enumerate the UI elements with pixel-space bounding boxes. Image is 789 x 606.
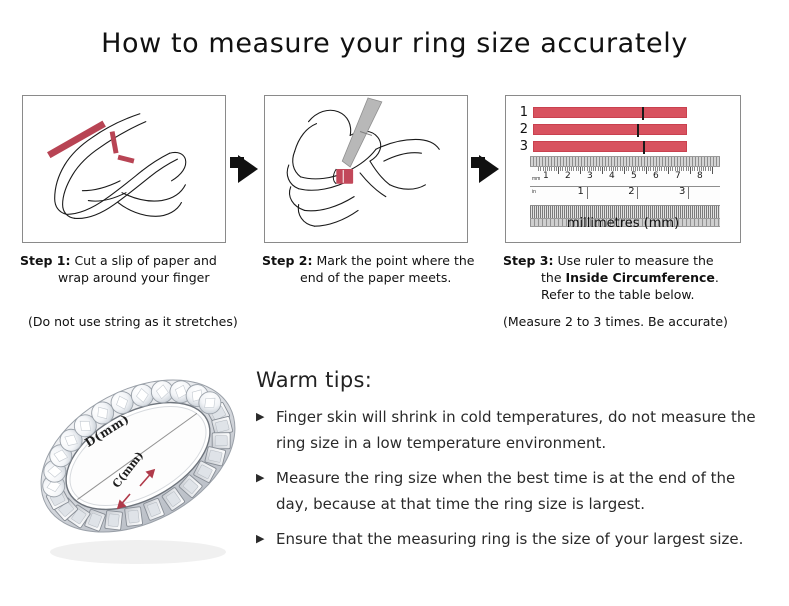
ruler-minor-tick: [622, 167, 623, 171]
ruler-major-tick: [690, 167, 691, 174]
ruler-minor-tick: [560, 167, 561, 171]
step-1-caption: Step 1: Cut a slip of paper and wrap aro…: [20, 252, 250, 286]
ruler-minor-tick: [659, 167, 660, 171]
step-2-text-line1: Mark the point where the: [316, 253, 474, 268]
ruler-minor-tick: [648, 167, 649, 171]
ruler-minor-tick: [628, 167, 629, 171]
ring-size-guide-page: How to measure your ring size accurately: [0, 0, 789, 606]
ruler-minor-tick: [626, 167, 627, 171]
step-2-caption: Step 2: Mark the point where the end of …: [262, 252, 497, 286]
step-3-label: Step 3:: [503, 253, 553, 268]
hands-marking-paper-icon: [265, 96, 467, 242]
step-3-line2-prefix: the: [541, 270, 566, 285]
ring-gem: [105, 510, 123, 530]
ruler-minor-tick: [666, 167, 667, 171]
warm-tip-item: ▶ Measure the ring size when the best ti…: [256, 465, 761, 517]
step-1-text-line2: wrap around your finger: [20, 269, 250, 286]
ruler-minor-tick: [582, 167, 583, 171]
warm-tip-text: Finger skin will shrink in cold temperat…: [276, 408, 756, 452]
paper-strip: [533, 124, 687, 135]
step-2-label: Step 2:: [262, 253, 312, 268]
ruler-tick-label: 3: [587, 172, 593, 181]
page-title: How to measure your ring size accurately: [0, 28, 789, 59]
ruler-minor-tick: [681, 167, 682, 171]
ruler-top-band: [530, 156, 720, 167]
ruler-minor-tick: [576, 167, 577, 171]
bullet-triangle-icon: ▶: [256, 526, 264, 552]
ruler-tick-label: 2: [565, 172, 571, 181]
ruler-minor-tick: [598, 167, 599, 171]
step-3-text-line1: Use ruler to measure the: [557, 253, 713, 268]
step-1-text-line1: Cut a slip of paper and: [74, 253, 216, 268]
ruler-minor-tick: [573, 167, 574, 171]
ruler-unit-caption: millimetres (mm): [506, 216, 740, 231]
ruler-inch-separator: [587, 187, 588, 199]
ruler-minor-tick: [551, 167, 552, 171]
warm-tips-list: ▶ Finger skin will shrink in cold temper…: [256, 404, 761, 561]
warm-tip-text: Measure the ring size when the best time…: [276, 469, 735, 513]
step-3-line2-suffix: .: [715, 270, 719, 285]
strip-mark: [642, 107, 644, 120]
ruler-minor-tick: [578, 167, 579, 171]
ruler-minor-tick: [549, 167, 550, 171]
ruler-metric-scale: mm 12345678: [530, 167, 720, 187]
ruler-tick-label: 4: [609, 172, 615, 181]
ruler-major-tick: [602, 167, 603, 174]
ruler-minor-tick: [600, 167, 601, 171]
ruler-major-tick: [624, 167, 625, 174]
ruler-inch-separator: [688, 187, 689, 199]
step-1-image-panel: [22, 95, 226, 243]
ruler-major-tick: [558, 167, 559, 174]
ruler-tick-label: 7: [675, 172, 681, 181]
warm-tip-text: Ensure that the measuring ring is the si…: [276, 530, 743, 548]
ruler-minor-tick: [664, 167, 665, 171]
step-3-note: (Measure 2 to 3 times. Be accurate): [503, 313, 728, 330]
ruler-minor-tick: [556, 167, 557, 171]
ruler-inch-scale: in 123: [530, 187, 720, 205]
step-3-text-line3: Refer to the table below.: [503, 286, 763, 303]
ruler-minor-tick: [615, 167, 616, 171]
ruler-minor-tick: [686, 167, 687, 171]
ruler-minor-tick: [703, 167, 704, 171]
ruler-minor-tick: [571, 167, 572, 171]
strip-number: 2: [514, 123, 528, 136]
hand-with-paper-strip-icon: [23, 96, 225, 242]
ruler-minor-tick: [705, 167, 706, 171]
ruler-minor-tick: [661, 167, 662, 171]
ruler-inch-label: 1: [578, 187, 584, 197]
ruler-minor-tick: [694, 167, 695, 171]
ruler-unit-mm: mm: [532, 176, 540, 182]
strip-mark: [643, 141, 645, 154]
ruler-unit-in: in: [532, 189, 536, 195]
strip-number: 3: [514, 140, 528, 153]
step-3-inside-circumference: Inside Circumference: [566, 270, 715, 285]
strip-number: 1: [514, 106, 528, 119]
ruler-minor-tick: [670, 167, 671, 171]
ruler-minor-tick: [644, 167, 645, 171]
step-3-caption: Step 3: Use ruler to measure the the Ins…: [503, 252, 763, 303]
ruler-tick-label: 1: [543, 172, 549, 181]
step-1-label: Step 1:: [20, 253, 70, 268]
step-2-text-line2: end of the paper meets.: [262, 269, 497, 286]
ruler-minor-tick: [642, 167, 643, 171]
ruler-minor-tick: [683, 167, 684, 171]
ruler-inch-label: 3: [679, 187, 685, 197]
arrow-2-3-head: [479, 155, 499, 183]
ruler-minor-tick: [604, 167, 605, 171]
ruler-minor-tick: [562, 167, 563, 171]
ruler-minor-tick: [692, 167, 693, 171]
ruler-tick-label: 5: [631, 172, 637, 181]
ring-gem: [212, 433, 230, 449]
ruler-minor-tick: [606, 167, 607, 171]
paper-strip: [533, 107, 687, 118]
measured-strip-row-3: 3: [514, 140, 687, 153]
ruler-major-tick: [712, 167, 713, 174]
warm-tips-heading: Warm tips:: [256, 368, 372, 392]
bullet-triangle-icon: ▶: [256, 465, 264, 491]
ruler-major-tick: [668, 167, 669, 174]
ruler-inch-label: 2: [628, 187, 634, 197]
step-2-image-panel: [264, 95, 468, 243]
ruler-tick-label: 6: [653, 172, 659, 181]
ruler-minor-tick: [620, 167, 621, 171]
step-3-image-panel: 1 2 3 mm 12345678 in 123: [505, 95, 741, 243]
ruler-minor-tick: [554, 167, 555, 171]
paper-strip: [533, 141, 687, 152]
ruler-minor-tick: [540, 167, 541, 171]
ruler-minor-tick: [639, 167, 640, 171]
step-3-text-line2: the Inside Circumference.: [503, 269, 763, 286]
ruler-minor-tick: [538, 167, 539, 171]
step-1-note: (Do not use string as it stretches): [28, 313, 238, 330]
ring-gem: [125, 507, 143, 527]
ruler-minor-tick: [593, 167, 594, 171]
measured-strip-row-1: 1: [514, 106, 687, 119]
arrow-1-2-head: [238, 155, 258, 183]
ruler-major-tick: [580, 167, 581, 174]
warm-tip-item: ▶ Ensure that the measuring ring is the …: [256, 526, 761, 552]
ruler-minor-tick: [708, 167, 709, 171]
ruler-major-tick: [646, 167, 647, 174]
ruler-minor-tick: [637, 167, 638, 171]
warm-tip-item: ▶ Finger skin will shrink in cold temper…: [256, 404, 761, 456]
ruler-minor-tick: [650, 167, 651, 171]
bullet-triangle-icon: ▶: [256, 404, 264, 430]
ruler-inch-separator: [637, 187, 638, 199]
ruler-minor-tick: [710, 167, 711, 171]
ruler-minor-tick: [617, 167, 618, 171]
ruler-minor-tick: [595, 167, 596, 171]
ruler-minor-tick: [688, 167, 689, 171]
ruler-minor-tick: [584, 167, 585, 171]
ruler-tick-label: 8: [697, 172, 703, 181]
strip-mark: [637, 124, 639, 137]
measured-strip-row-2: 2: [514, 123, 687, 136]
ruler-minor-tick: [672, 167, 673, 171]
